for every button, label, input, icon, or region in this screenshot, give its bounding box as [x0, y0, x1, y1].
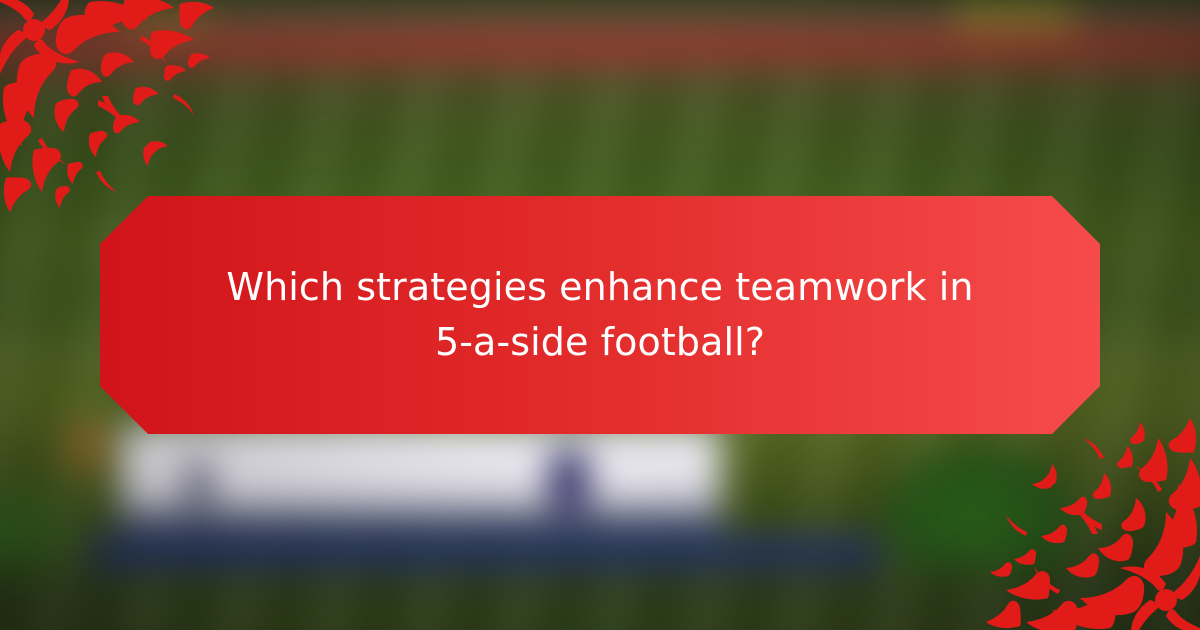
- question-text: Which strategies enhance teamwork in 5-a…: [200, 260, 1000, 371]
- social-card: Which strategies enhance teamwork in 5-a…: [0, 0, 1200, 630]
- question-banner: Which strategies enhance teamwork in 5-a…: [100, 196, 1100, 434]
